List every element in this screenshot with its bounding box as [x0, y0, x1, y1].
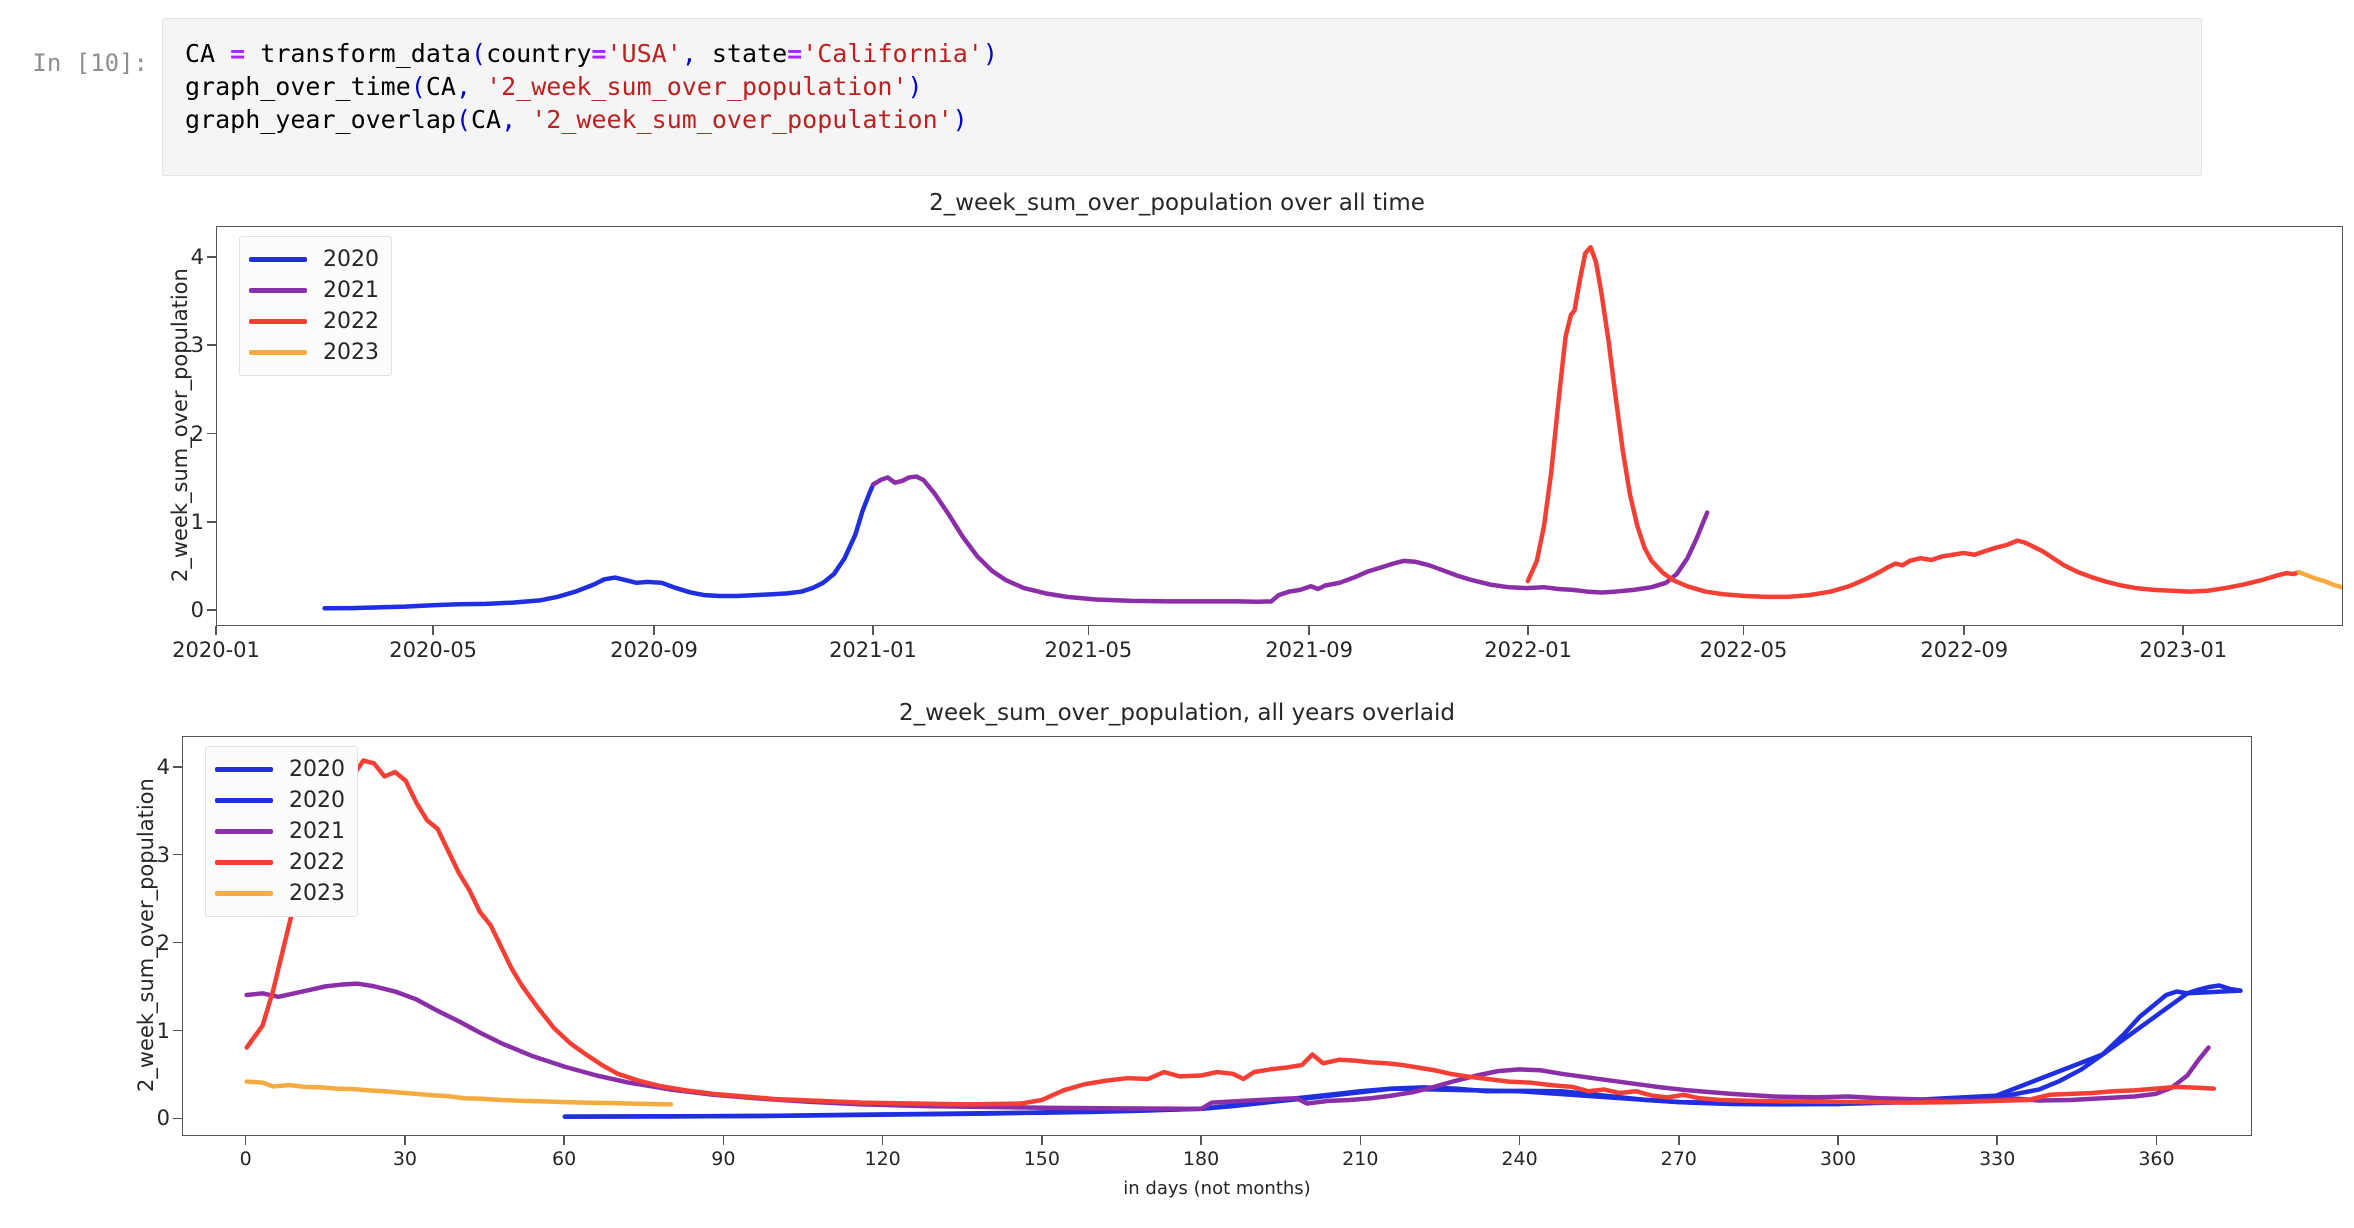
x-tick-mark	[1996, 1136, 1998, 1145]
code-token: graph_over_time	[185, 72, 411, 101]
y-tick-label: 2	[130, 931, 170, 955]
x-tick-mark	[215, 626, 217, 635]
code-token: 'California'	[802, 39, 983, 68]
x-tick-label: 2021-05	[1044, 638, 1132, 662]
x-tick-label: 90	[711, 1148, 735, 1170]
legend-swatch-icon	[215, 829, 273, 834]
series-line-2021	[247, 984, 2209, 1109]
y-tick-mark	[173, 766, 182, 768]
figure-2-plot-area: 20202020202120222023	[182, 736, 2252, 1136]
legend-swatch-icon	[249, 350, 307, 355]
x-tick-label: 120	[864, 1148, 900, 1170]
code-token: ,	[456, 72, 471, 101]
x-tick-label: 30	[393, 1148, 417, 1170]
x-tick-mark	[1200, 1136, 1202, 1145]
y-tick-label: 4	[130, 755, 170, 779]
code-editor[interactable]: CA = transform_data(country='USA', state…	[162, 18, 2202, 176]
x-tick-mark	[1360, 1136, 1362, 1145]
legend-swatch-icon	[215, 891, 273, 896]
series-line-2022	[1528, 247, 2299, 597]
legend-item: 2021	[215, 816, 345, 847]
y-tick-label: 1	[164, 510, 204, 534]
x-tick-mark	[1743, 626, 1745, 635]
code-token: CA	[185, 39, 230, 68]
code-token: (	[456, 105, 471, 134]
code-line-2: graph_over_time(CA, '2_week_sum_over_pop…	[185, 70, 2181, 103]
series-line-2021	[873, 477, 1707, 602]
code-line-3: graph_year_overlap(CA, '2_week_sum_over_…	[185, 103, 2181, 136]
code-token: ,	[682, 39, 697, 68]
y-tick-mark	[173, 1118, 182, 1120]
series-line-2023	[2299, 572, 2342, 596]
legend-label: 2021	[323, 278, 379, 303]
jupyter-notebook-output: In [10]: CA = transform_data(country='US…	[0, 0, 2354, 1228]
legend-label: 2023	[289, 881, 345, 906]
figure-2-legend: 20202020202120222023	[205, 746, 358, 917]
legend-swatch-icon	[215, 860, 273, 865]
x-tick-label: 2021-09	[1265, 638, 1353, 662]
code-token: CA	[471, 105, 501, 134]
y-tick-label: 1	[130, 1019, 170, 1043]
figure-2-title: 2_week_sum_over_population, all years ov…	[0, 700, 2354, 726]
x-tick-label: 2020-09	[610, 638, 698, 662]
x-tick-mark	[1678, 1136, 1680, 1145]
code-cell[interactable]: In [10]: CA = transform_data(country='US…	[0, 18, 2354, 176]
x-tick-label: 2022-05	[1700, 638, 1788, 662]
y-tick-label: 4	[164, 245, 204, 269]
legend-label: 2022	[323, 309, 379, 334]
x-tick-mark	[432, 626, 434, 635]
legend-item: 2020	[215, 754, 345, 785]
y-tick-mark	[207, 521, 216, 523]
legend-item: 2023	[249, 337, 379, 368]
legend-label: 2021	[289, 819, 345, 844]
x-tick-mark	[1963, 626, 1965, 635]
series-line-2020b	[565, 991, 2241, 1117]
code-token: (	[411, 72, 426, 101]
x-tick-mark	[245, 1136, 247, 1145]
y-tick-label: 2	[164, 422, 204, 446]
code-token: country	[486, 39, 591, 68]
x-tick-label: 180	[1183, 1148, 1219, 1170]
legend-item: 2022	[249, 306, 379, 337]
y-tick-label: 3	[164, 333, 204, 357]
legend-swatch-icon	[215, 798, 273, 803]
x-tick-label: 2022-09	[1920, 638, 2008, 662]
x-tick-label: 2021-01	[829, 638, 917, 662]
code-token: '2_week_sum_over_population'	[486, 72, 907, 101]
legend-item: 2020	[215, 785, 345, 816]
x-tick-label: 0	[240, 1148, 252, 1170]
x-tick-label: 240	[1501, 1148, 1537, 1170]
x-tick-mark	[1041, 1136, 1043, 1145]
x-tick-mark	[1308, 626, 1310, 635]
series-line-2022	[247, 761, 2214, 1105]
x-tick-mark	[872, 626, 874, 635]
y-tick-label: 0	[164, 598, 204, 622]
code-token: =	[230, 39, 245, 68]
code-token: =	[591, 39, 606, 68]
legend-swatch-icon	[249, 257, 307, 262]
x-tick-label: 150	[1024, 1148, 1060, 1170]
y-tick-mark	[207, 433, 216, 435]
code-token: CA	[426, 72, 456, 101]
x-tick-mark	[653, 626, 655, 635]
code-line-1: CA = transform_data(country='USA', state…	[185, 37, 2181, 70]
x-tick-mark	[1527, 626, 1529, 635]
cell-prompt-label: In [10]:	[0, 18, 162, 176]
figure-1-title: 2_week_sum_over_population over all time	[0, 190, 2354, 216]
y-tick-mark	[173, 1030, 182, 1032]
x-tick-label: 60	[552, 1148, 576, 1170]
figure-1-plot-area: 2020202120222023	[216, 226, 2343, 626]
code-token	[516, 105, 531, 134]
x-tick-label: 270	[1661, 1148, 1697, 1170]
x-tick-label: 330	[1979, 1148, 2015, 1170]
legend-label: 2022	[289, 850, 345, 875]
legend-swatch-icon	[249, 288, 307, 293]
code-token	[471, 72, 486, 101]
x-tick-label: 210	[1342, 1148, 1378, 1170]
x-tick-label: 2023-01	[2139, 638, 2227, 662]
figure-year-overlap: 2_week_sum_over_population, all years ov…	[0, 700, 2354, 1228]
figure-over-time: 2_week_sum_over_population over all time…	[0, 190, 2354, 670]
legend-item: 2022	[215, 847, 345, 878]
x-tick-mark	[2182, 626, 2184, 635]
code-token: ,	[501, 105, 516, 134]
legend-swatch-icon	[215, 767, 273, 772]
code-token: 'USA'	[606, 39, 681, 68]
code-token: )	[908, 72, 923, 101]
y-tick-mark	[207, 609, 216, 611]
x-tick-mark	[1837, 1136, 1839, 1145]
x-tick-mark	[1519, 1136, 1521, 1145]
code-token: )	[953, 105, 968, 134]
figure-2-curves	[183, 737, 2251, 1135]
y-tick-label: 3	[130, 843, 170, 867]
code-token: state	[697, 39, 787, 68]
y-tick-mark	[207, 344, 216, 346]
figure-1-legend: 2020202120222023	[239, 236, 392, 376]
legend-label: 2020	[323, 247, 379, 272]
x-tick-mark	[723, 1136, 725, 1145]
code-token: (	[471, 39, 486, 68]
y-tick-mark	[173, 942, 182, 944]
legend-swatch-icon	[249, 319, 307, 324]
legend-label: 2023	[323, 340, 379, 365]
series-line-2020	[325, 484, 874, 608]
code-token: '2_week_sum_over_population'	[531, 105, 952, 134]
code-token: =	[787, 39, 802, 68]
figure-1-curves	[217, 227, 2342, 625]
x-tick-mark	[563, 1136, 565, 1145]
x-tick-mark	[2156, 1136, 2158, 1145]
x-tick-label: 300	[1820, 1148, 1856, 1170]
code-token: transform_data	[245, 39, 471, 68]
legend-item: 2021	[249, 275, 379, 306]
legend-label: 2020	[289, 757, 345, 782]
code-token: )	[983, 39, 998, 68]
x-tick-label: 2022-01	[1484, 638, 1572, 662]
y-tick-label: 0	[130, 1106, 170, 1130]
legend-label: 2020	[289, 788, 345, 813]
x-tick-mark	[1088, 626, 1090, 635]
x-tick-mark	[882, 1136, 884, 1145]
x-tick-label: 2020-05	[389, 638, 477, 662]
x-tick-mark	[404, 1136, 406, 1145]
legend-item: 2020	[249, 244, 379, 275]
series-line-2023	[247, 1082, 671, 1105]
legend-item: 2023	[215, 878, 345, 909]
figure-2-xlabel: in days (not months)	[182, 1178, 2252, 1199]
code-token: graph_year_overlap	[185, 105, 456, 134]
x-tick-label: 2020-01	[172, 638, 260, 662]
y-tick-mark	[173, 854, 182, 856]
y-tick-mark	[207, 256, 216, 258]
x-tick-label: 360	[2138, 1148, 2174, 1170]
